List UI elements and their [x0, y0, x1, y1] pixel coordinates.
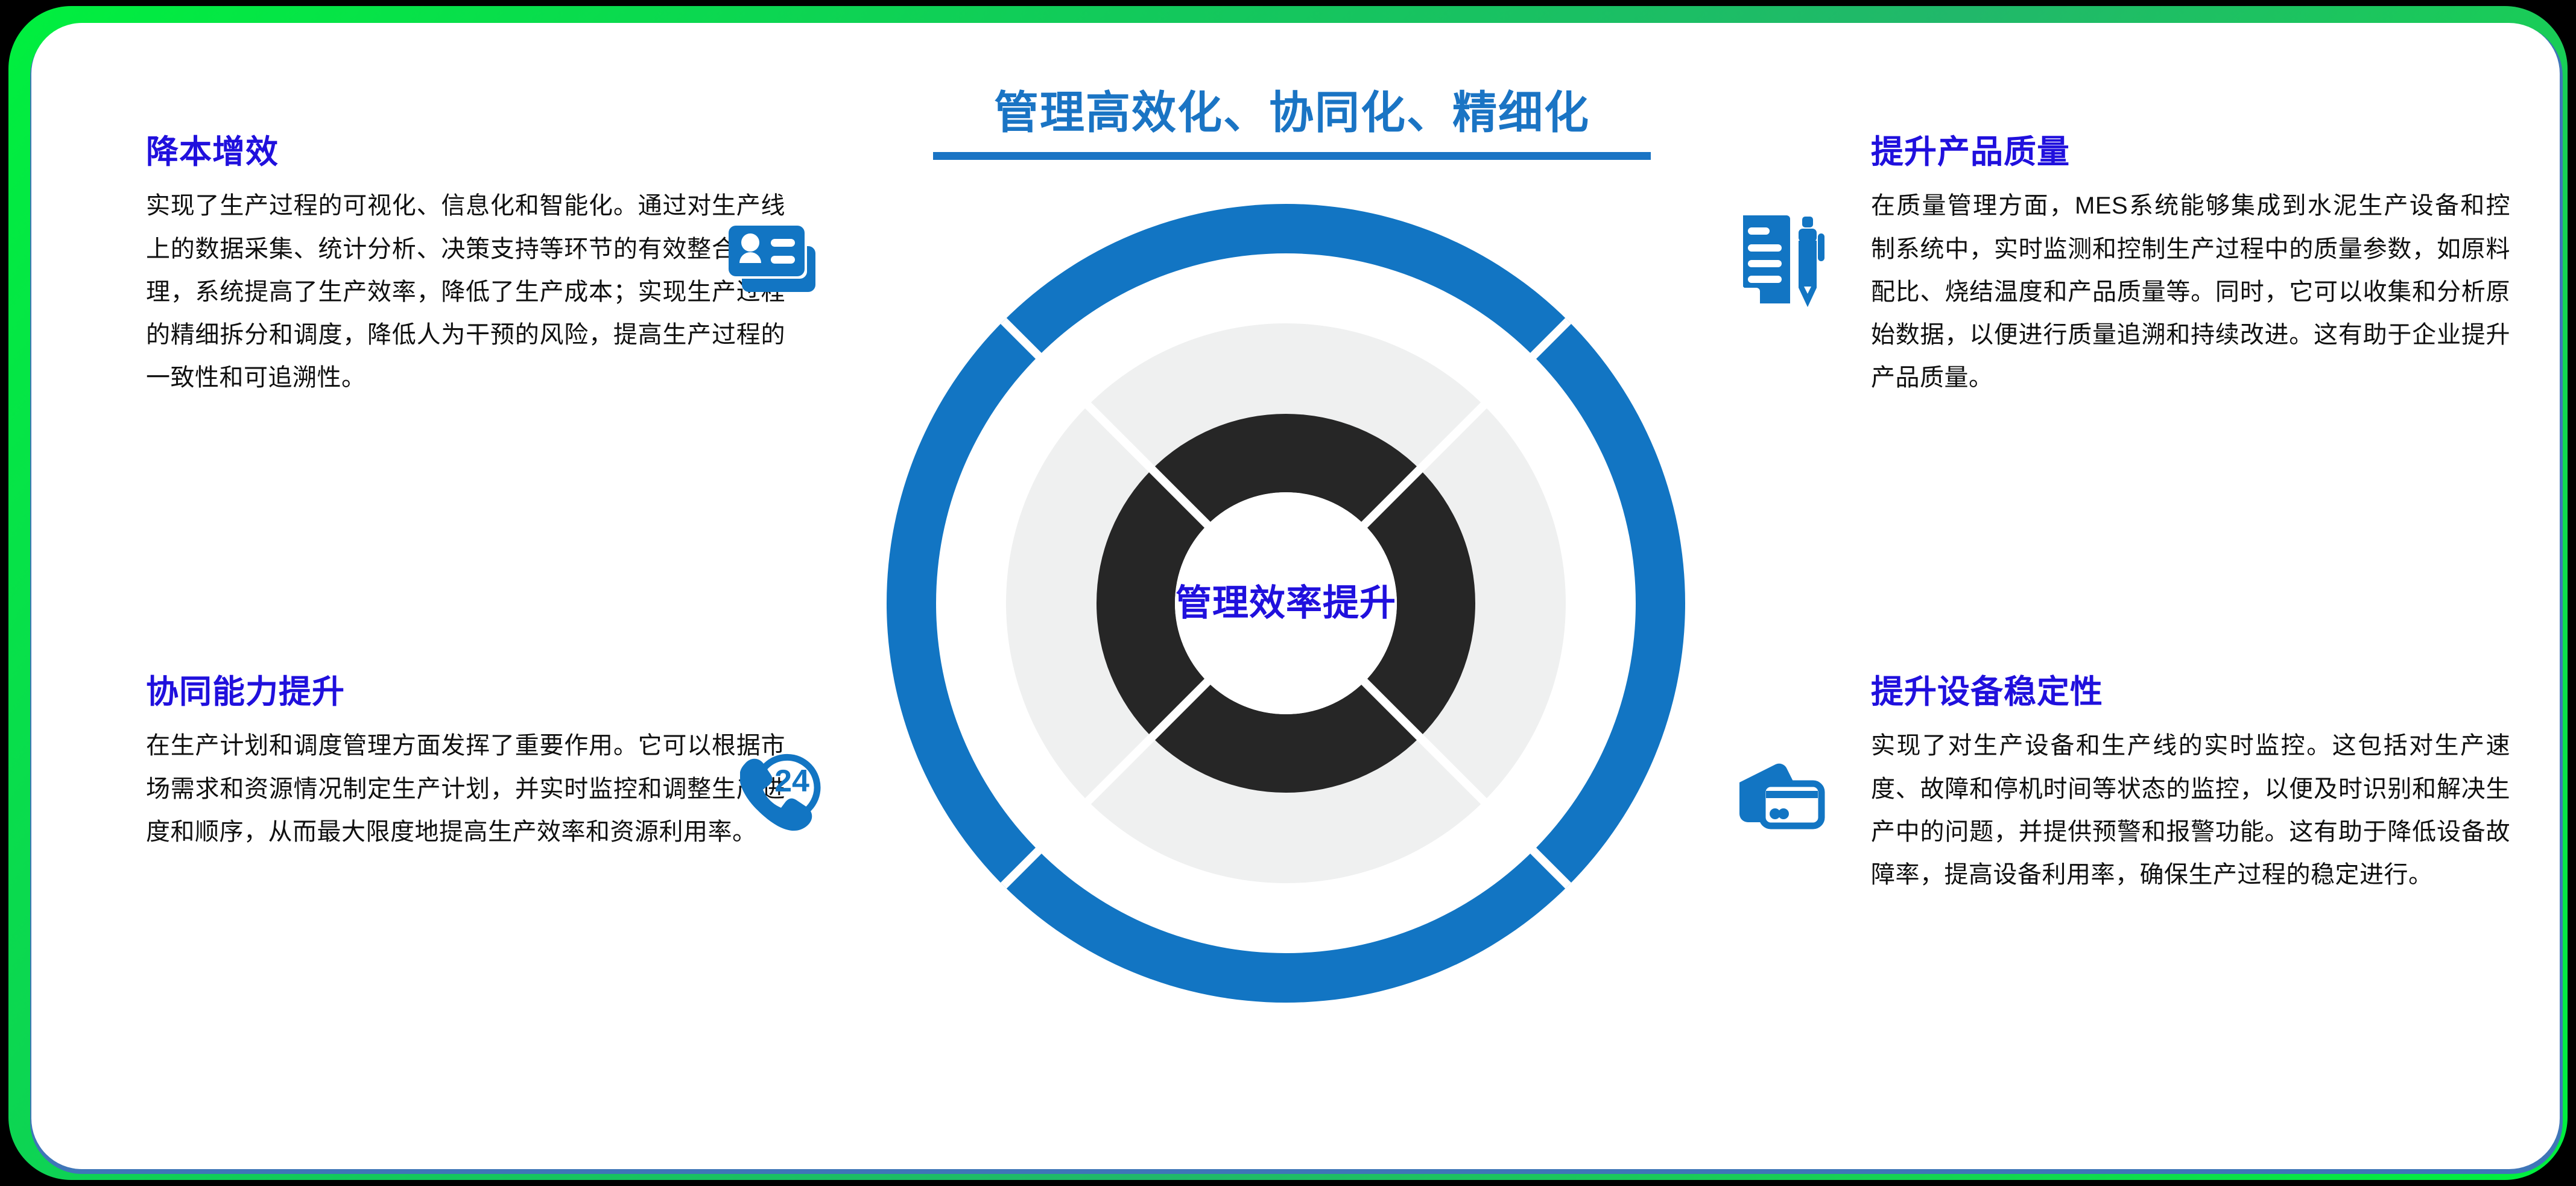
- content-card: 管理高效化、协同化、精细化 管理效率提升 降本增效 实现了生产过程的可视化、信息…: [31, 23, 2560, 1169]
- donut-center-label: 管理效率提升: [1175, 492, 1397, 714]
- center-title-block: 管理高效化、协同化、精细化: [864, 89, 1720, 160]
- feature-heading-collaboration: 协同能力提升: [146, 674, 785, 710]
- concentric-donut-chart: 管理效率提升: [887, 204, 1685, 1003]
- title-underline: [933, 152, 1651, 160]
- feature-body-cost-reduction: 实现了生产过程的可视化、信息化和智能化。通过对生产线上的数据采集、统计分析、决策…: [146, 185, 785, 399]
- credit-card-icon: [1738, 756, 1835, 840]
- feature-heading-quality: 提升产品质量: [1871, 135, 2510, 170]
- green-frame: 管理高效化、协同化、精细化 管理效率提升 降本增效 实现了生产过程的可视化、信息…: [8, 6, 2568, 1180]
- feature-heading-equipment-stability: 提升设备稳定性: [1871, 674, 2510, 710]
- phone-badge-number: 24: [774, 764, 809, 799]
- feature-heading-cost-reduction: 降本增效: [146, 135, 785, 170]
- feature-block-equipment-stability: 提升设备稳定性 实现了对生产设备和生产线的实时监控。这包括对生产速度、故障和停机…: [1871, 674, 2510, 896]
- feature-body-quality: 在质量管理方面，MES系统能够集成到水泥生产设备和控制系统中，实时监测和控制生产…: [1871, 185, 2510, 399]
- page-title: 管理高效化、协同化、精细化: [864, 89, 1720, 136]
- feature-block-cost-reduction: 降本增效 实现了生产过程的可视化、信息化和智能化。通过对生产线上的数据采集、统计…: [146, 135, 785, 399]
- phone-24h-icon: 24: [740, 741, 831, 831]
- contact-card-icon: [725, 215, 821, 299]
- document-pen-icon: [1738, 213, 1829, 309]
- feature-body-equipment-stability: 实现了对生产设备和生产线的实时监控。这包括对生产速度、故障和停机时间等状态的监控…: [1871, 725, 2510, 896]
- feature-block-collaboration: 协同能力提升 在生产计划和调度管理方面发挥了重要作用。它可以根据市场需求和资源情…: [146, 674, 785, 854]
- feature-body-collaboration: 在生产计划和调度管理方面发挥了重要作用。它可以根据市场需求和资源情况制定生产计划…: [146, 725, 785, 854]
- feature-block-quality: 提升产品质量 在质量管理方面，MES系统能够集成到水泥生产设备和控制系统中，实时…: [1871, 135, 2510, 399]
